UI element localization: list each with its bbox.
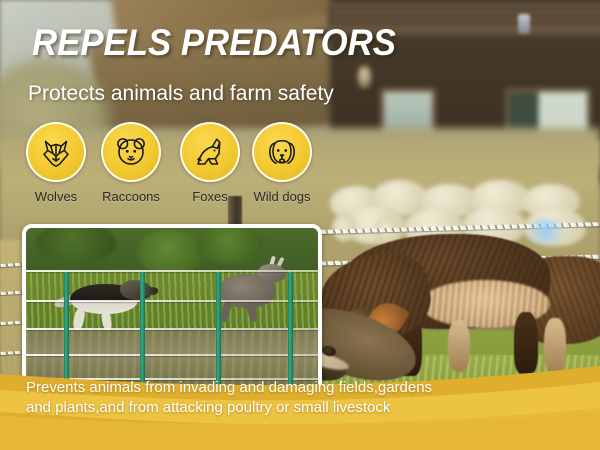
photo-bush xyxy=(136,230,206,274)
footer-banner: Prevents animals from invading and damag… xyxy=(0,360,600,450)
photo-fence-wire xyxy=(26,300,318,302)
page-title: REPELS PREDATORS xyxy=(32,24,396,62)
photo-fence-wire xyxy=(26,328,318,330)
goat-leg xyxy=(219,299,232,322)
photo-fence-wire xyxy=(26,270,318,272)
wall-sensor-icon xyxy=(518,14,530,34)
porch-lamp xyxy=(358,66,371,88)
predator-label: Wild dogs xyxy=(222,189,342,204)
photo-fence-wire xyxy=(26,354,318,356)
dog-face-icon[interactable] xyxy=(252,122,312,182)
footer-text: Prevents animals from invading and damag… xyxy=(26,378,456,417)
product-feature-banner: REPELS PREDATORS Protects animals and fa… xyxy=(0,0,600,450)
photo-bush xyxy=(198,224,264,264)
page-subtitle: Protects animals and farm safety xyxy=(28,82,334,106)
goat-head xyxy=(258,264,286,282)
predator-icon-row: Wolves Raccoons xyxy=(0,122,600,214)
predator-item-wild-dogs[interactable]: Wild dogs xyxy=(222,122,342,204)
